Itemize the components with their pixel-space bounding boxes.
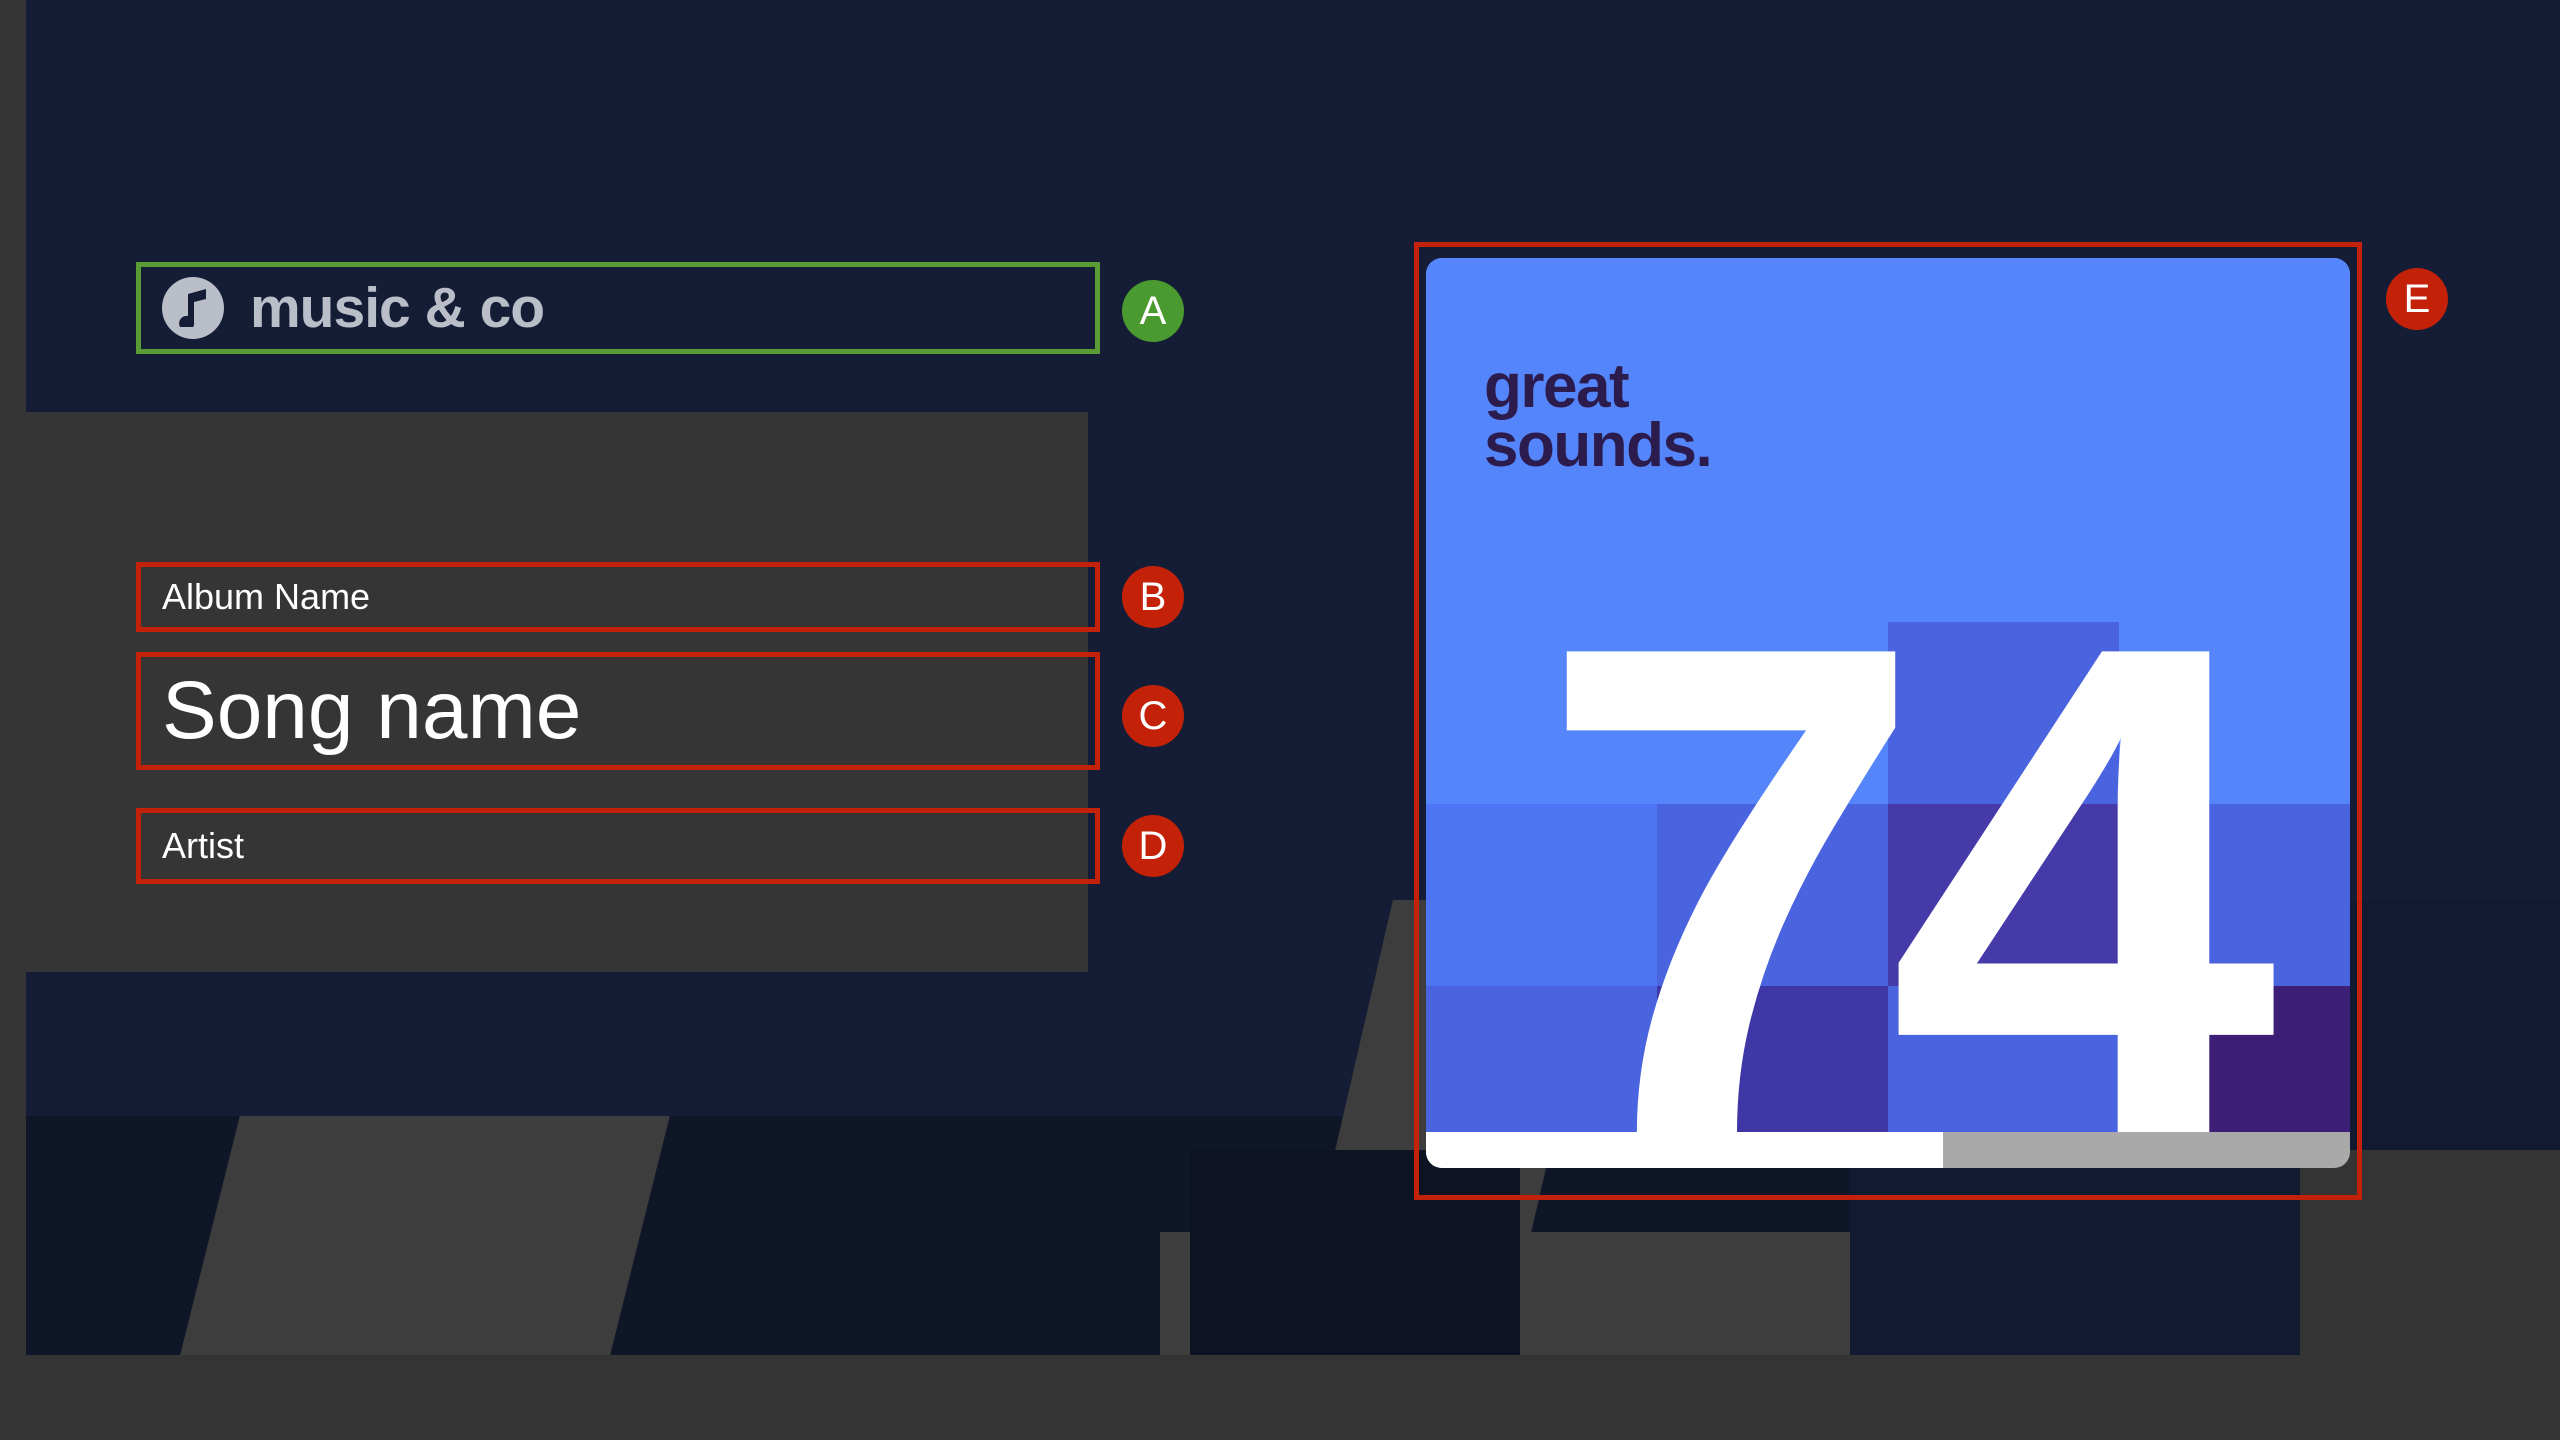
- song-name-text: Song name: [162, 670, 581, 752]
- playback-progress-bar[interactable]: [1426, 1132, 2350, 1168]
- music-note-icon: [162, 277, 224, 339]
- brand-header[interactable]: music & co: [140, 268, 1096, 348]
- album-art-big-number: 74: [1426, 258, 2350, 1168]
- annotation-badge-a: A: [1122, 280, 1184, 342]
- song-name-field[interactable]: Song name: [140, 656, 1096, 766]
- annotation-badge-c: C: [1122, 685, 1184, 747]
- artist-field[interactable]: Artist: [140, 812, 1096, 880]
- artist-name-text: Artist: [162, 828, 244, 864]
- playback-progress-fill: [1426, 1132, 1943, 1168]
- annotation-badge-d: D: [1122, 815, 1184, 877]
- background-gray-right: [2300, 1150, 2560, 1355]
- album-name-text: Album Name: [162, 579, 370, 615]
- brand-name: music & co: [250, 280, 544, 337]
- album-name-field[interactable]: Album Name: [140, 566, 1096, 628]
- album-art-card[interactable]: great sounds. 74: [1426, 258, 2350, 1168]
- annotation-badge-b: B: [1122, 566, 1184, 628]
- annotation-badge-e: E: [2386, 268, 2448, 330]
- app-root: music & co Album Name Song name Artist g…: [0, 0, 2560, 1440]
- background-gray-bottom: [0, 1355, 2560, 1440]
- background-left-strip: [0, 0, 26, 1440]
